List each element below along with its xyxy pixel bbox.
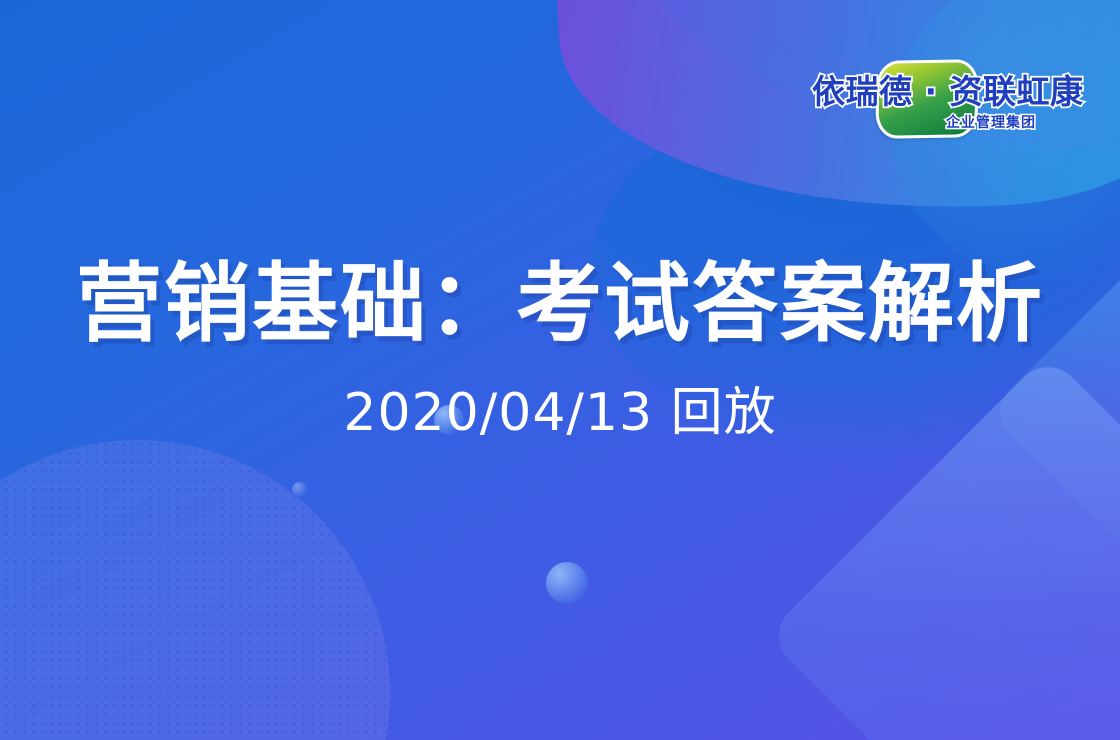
slide-subtitle: 2020/04/13 回放: [0, 382, 1120, 444]
logo-brand-text: 依瑞德 · 资联虹康: [812, 72, 1064, 112]
dotted-circle-decoration: [0, 440, 390, 740]
company-logo: 依瑞德 · 资联虹康 企业管理集团: [812, 58, 1064, 138]
presentation-title-slide: 依瑞德 · 资联虹康 企业管理集团 营销基础：考试答案解析 2020/04/13…: [0, 0, 1120, 740]
slide-title: 营销基础：考试答案解析: [0, 252, 1120, 356]
corner-circle-decoration: [890, 0, 1120, 280]
bubble-lower-decoration: [546, 562, 588, 604]
logo-sub-text: 企业管理集团: [946, 112, 1036, 132]
headline-block: 营销基础：考试答案解析 2020/04/13 回放: [0, 252, 1120, 444]
bubble-small-decoration: [292, 482, 307, 497]
